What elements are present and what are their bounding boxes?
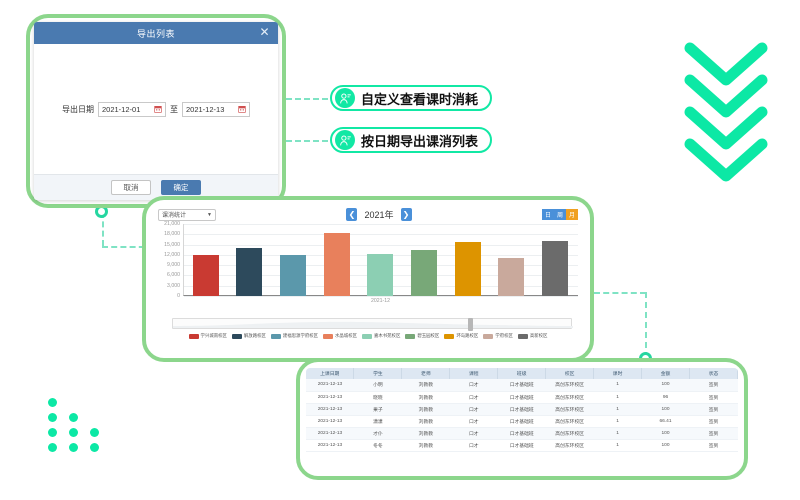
chevron-left-icon[interactable]: ❮ (346, 208, 357, 221)
table-column-header[interactable]: 状态 (690, 368, 738, 379)
table-cell: 高创东环校区 (546, 391, 594, 403)
table-row[interactable]: 2021-12-13冬冬刘教教口才口才基础班高创东环校区1100签到 (306, 439, 738, 451)
table-cell: 2021-12-13 (306, 439, 354, 451)
connector-line-callout-1 (286, 98, 328, 100)
legend-label: 学兴城南校区 (201, 333, 227, 339)
legend-label: 碧玉园校区 (417, 333, 439, 339)
chart-y-tick: 9,000 (167, 262, 180, 268)
table-cell: 口才基础班 (498, 415, 546, 427)
decor-chevrons (684, 42, 776, 180)
chart-bar[interactable] (324, 233, 350, 296)
table-cell: 签到 (690, 427, 738, 439)
legend-swatch (518, 334, 528, 339)
chart-bar[interactable] (498, 258, 524, 296)
table-cell: 高创东环校区 (546, 379, 594, 391)
legend-label: 学府校区 (495, 333, 513, 339)
table-cell: 100 (642, 439, 690, 451)
dialog-title: 导出列表 (137, 27, 175, 40)
table-cell: 口才基础班 (498, 379, 546, 391)
callout-custom-view: 自定义查看课时消耗 (330, 85, 492, 111)
table-cell: 2021-12-13 (306, 403, 354, 415)
legend-swatch (189, 334, 199, 339)
chart-y-tick: 6,000 (167, 272, 180, 278)
legend-swatch (444, 334, 454, 339)
table-column-header[interactable]: 金额 (642, 368, 690, 379)
confirm-button[interactable]: 确定 (161, 180, 201, 195)
year-navigator: ❮ 2021年 ❯ (216, 208, 542, 221)
range-toggle-group: 日 周 月 (542, 209, 578, 220)
legend-item[interactable]: 建福思源学府校区 (271, 333, 318, 339)
table-cell: 口才 (450, 403, 498, 415)
chevron-down-icon: ▼ (207, 212, 212, 218)
legend-item[interactable]: 学府校区 (483, 333, 513, 339)
chart-bar[interactable] (367, 254, 393, 297)
course-consumption-table: 上课日期学生老师课程班级校区课时金额状态 2021-12-13小明刘教教口才口才… (306, 368, 738, 470)
chart-y-axis: 21,00018,00015,00012,0009,0006,0003,0000 (156, 224, 182, 296)
chart-y-tick: 3,000 (167, 283, 180, 289)
table-cell: 口才基础班 (498, 403, 546, 415)
legend-item[interactable]: 解放路校区 (232, 333, 266, 339)
legend-label: 建福思源学府校区 (283, 333, 318, 339)
legend-label: 解放路校区 (244, 333, 266, 339)
table-cell: 刘教教 (402, 403, 450, 415)
export-date-label: 导出日期 (62, 104, 94, 115)
legend-item[interactable]: 嘉木书苑校区 (362, 333, 400, 339)
table-cell: 2021-12-13 (306, 415, 354, 427)
table-cell: 100 (642, 427, 690, 439)
callout-label: 按日期导出课消列表 (361, 131, 478, 150)
chart-bar[interactable] (542, 241, 568, 296)
dialog-body: 导出日期 2021-12-01 至 2021-12-13 (34, 44, 278, 174)
table-column-header[interactable]: 上课日期 (306, 368, 354, 379)
table-cell: 1 (594, 439, 642, 451)
legend-label: 水晶城校区 (335, 333, 357, 339)
table-cell: 66.41 (642, 415, 690, 427)
table-cell: 高创东环校区 (546, 427, 594, 439)
chart-bar[interactable] (236, 248, 262, 296)
table-cell: 刘教教 (402, 391, 450, 403)
chart-y-tick: 21,000 (164, 221, 180, 227)
chart-range-scrollbar[interactable] (172, 318, 572, 329)
range-toggle-week[interactable]: 周 (554, 209, 566, 220)
legend-swatch (232, 334, 242, 339)
legend-label: 高新校区 (530, 333, 548, 339)
legend-item[interactable]: 碧玉园校区 (405, 333, 439, 339)
table-cell: 100 (642, 403, 690, 415)
table-cell: 签到 (690, 403, 738, 415)
table-cell: 口才 (450, 391, 498, 403)
date-to-input[interactable]: 2021-12-13 (182, 102, 250, 117)
scrollbar-preview-wave (173, 321, 573, 328)
calendar-icon (238, 105, 246, 113)
export-date-row: 导出日期 2021-12-01 至 2021-12-13 (62, 102, 250, 117)
table-body: 2021-12-13小明刘教教口才口才基础班高创东环校区1100签到2021-1… (306, 379, 738, 451)
chart-panel: 课消统计 ▼ ❮ 2021年 ❯ 日 周 月 21,00018,00015,00… (150, 204, 586, 354)
table-cell: 1 (594, 427, 642, 439)
table-cell: 2021-12-13 (306, 379, 354, 391)
chart-bar[interactable] (455, 242, 481, 297)
chevron-down-decor-icon (684, 138, 768, 182)
chart-y-tick: 18,000 (164, 231, 180, 237)
chart-bar[interactable] (280, 255, 306, 296)
table-column-header[interactable]: 校区 (546, 368, 594, 379)
export-dialog: 导出列表 ✕ 导出日期 2021-12-01 至 2021-12-13 (34, 22, 278, 200)
table-cell: 刘教教 (402, 379, 450, 391)
chevron-right-icon[interactable]: ❯ (401, 208, 412, 221)
table-cell: 签到 (690, 439, 738, 451)
table-row[interactable]: 2021-12-13小明刘教教口才口才基础班高创东环校区1100签到 (306, 379, 738, 391)
chart-bars (184, 224, 577, 296)
table-cell: 口才 (450, 439, 498, 451)
table-header-row: 上课日期学生老师课程班级校区课时金额状态 (306, 368, 738, 379)
chart-toolbar: 课消统计 ▼ ❮ 2021年 ❯ 日 周 月 (150, 204, 586, 222)
connector-line-chart-table-h (594, 292, 646, 294)
bar-chart: 21,00018,00015,00012,0009,0006,0003,0000… (156, 224, 580, 310)
chart-x-tick-label: 2021-12 (183, 298, 578, 304)
legend-label: 嘉木书苑校区 (374, 333, 400, 339)
table-row[interactable]: 2021-12-13晓晓刘教教口才口才基础班高创东环校区196签到 (306, 391, 738, 403)
table-cell: 2021-12-13 (306, 391, 354, 403)
table-cell: 高创东环校区 (546, 439, 594, 451)
table-cell: 100 (642, 379, 690, 391)
cancel-button[interactable]: 取消 (111, 180, 151, 195)
table-cell: 刘教教 (402, 415, 450, 427)
legend-item[interactable]: 环岛路校区 (444, 333, 478, 339)
chart-type-select-value: 课消统计 (162, 210, 186, 219)
date-from-input[interactable]: 2021-12-01 (98, 102, 166, 117)
table-cell: 口才 (450, 379, 498, 391)
date-to-value: 2021-12-13 (186, 105, 224, 114)
gridline (184, 296, 578, 297)
callout-export-by-date: 按日期导出课消列表 (330, 127, 492, 153)
person-check-icon (335, 130, 355, 150)
chart-y-tick: 15,000 (164, 242, 180, 248)
table-cell: 签到 (690, 379, 738, 391)
legend-swatch (271, 334, 281, 339)
table-cell: 口才 (450, 415, 498, 427)
table-column-header[interactable]: 学生 (354, 368, 402, 379)
callout-label: 自定义查看课时消耗 (361, 89, 478, 108)
table-column-header[interactable]: 课时 (594, 368, 642, 379)
close-icon[interactable]: ✕ (259, 25, 270, 39)
table-row[interactable]: 2021-12-13果子刘教教口才口才基础班高创东环校区1100签到 (306, 403, 738, 415)
chart-type-select[interactable]: 课消统计 ▼ (158, 209, 216, 221)
table-cell: 冬冬 (354, 439, 402, 451)
table-column-header[interactable]: 课程 (450, 368, 498, 379)
table-cell: 1 (594, 415, 642, 427)
date-range-separator: 至 (170, 104, 178, 115)
chart-bar[interactable] (411, 250, 437, 296)
table-cell: 1 (594, 403, 642, 415)
connector-line-callout-2 (286, 140, 328, 142)
legend-item[interactable]: 高新校区 (518, 333, 548, 339)
range-toggle-month[interactable]: 月 (566, 209, 578, 220)
table-row[interactable]: 2021-12-13潇潇刘教教口才口才基础班高创东环校区166.41签到 (306, 415, 738, 427)
table-cell: 口才 (450, 427, 498, 439)
table-cell: 高创东环校区 (546, 415, 594, 427)
chart-bar[interactable] (193, 255, 219, 296)
dialog-title-bar: 导出列表 ✕ (34, 22, 278, 44)
table-cell: 2021-12-13 (306, 427, 354, 439)
table-cell: 签到 (690, 391, 738, 403)
table-cell: 口才基础班 (498, 427, 546, 439)
chart-legend: 学兴城南校区解放路校区建福思源学府校区水晶城校区嘉木书苑校区碧玉园校区环岛路校区… (150, 333, 586, 339)
legend-item[interactable]: 学兴城南校区 (189, 333, 227, 339)
year-label: 2021年 (364, 208, 393, 221)
table-cell: 晓晓 (354, 391, 402, 403)
table-cell: 口才基础班 (498, 391, 546, 403)
date-from-value: 2021-12-01 (102, 105, 140, 114)
table-cell: 96 (642, 391, 690, 403)
table-cell: 签到 (690, 415, 738, 427)
table-cell: 口才基础班 (498, 439, 546, 451)
chart-y-tick: 12,000 (164, 252, 180, 258)
calendar-icon (154, 105, 162, 113)
chart-y-tick: 0 (177, 293, 180, 299)
legend-swatch (323, 334, 333, 339)
table-cell: 潇潇 (354, 415, 402, 427)
table-cell: 1 (594, 379, 642, 391)
range-toggle-day[interactable]: 日 (542, 209, 554, 220)
table-column-header[interactable]: 班级 (498, 368, 546, 379)
legend-swatch (405, 334, 415, 339)
table-cell: 果子 (354, 403, 402, 415)
table-cell: 高创东环校区 (546, 403, 594, 415)
table-cell: 才仆 (354, 427, 402, 439)
table-cell: 刘教教 (402, 427, 450, 439)
table-row[interactable]: 2021-12-13才仆刘教教口才口才基础班高创东环校区1100签到 (306, 427, 738, 439)
scrollbar-handle[interactable] (468, 318, 473, 331)
legend-label: 环岛路校区 (456, 333, 478, 339)
table-cell: 刘教教 (402, 439, 450, 451)
person-check-icon (335, 88, 355, 108)
legend-item[interactable]: 水晶城校区 (323, 333, 357, 339)
legend-swatch (362, 334, 372, 339)
table-cell: 1 (594, 391, 642, 403)
table-cell: 小明 (354, 379, 402, 391)
connector-line-chart-table-v (645, 292, 647, 358)
table-column-header[interactable]: 老师 (402, 368, 450, 379)
legend-swatch (483, 334, 493, 339)
